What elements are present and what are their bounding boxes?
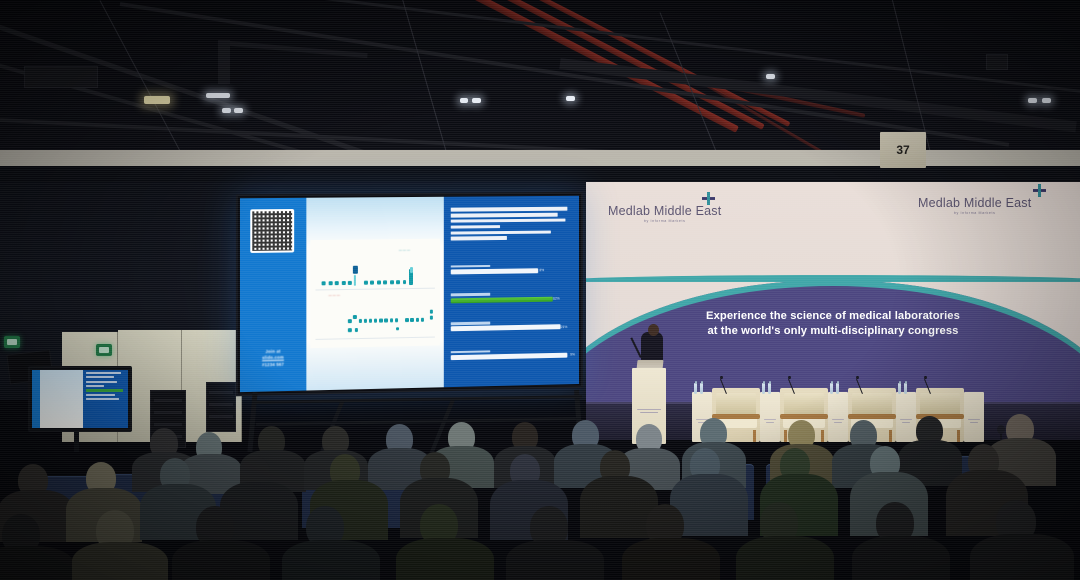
poll-option-0-percent: 8% — [539, 268, 544, 272]
speaker-head — [648, 324, 659, 336]
ceiling-light — [144, 96, 170, 104]
water-bottle — [762, 383, 765, 394]
backdrop-tagline: Experience the science of medical labora… — [626, 309, 1041, 341]
water-bottle — [768, 383, 771, 394]
medlab-logo-right: Medlab Middle East by Informa Markets — [918, 196, 1031, 215]
panel-mic-head — [788, 376, 791, 379]
audience-shoulders — [970, 534, 1074, 580]
audience-shoulders — [72, 542, 168, 580]
water-bottle — [836, 383, 839, 394]
audience — [0, 410, 1080, 580]
panel-mic-head — [924, 376, 927, 379]
ceiling-duct — [218, 40, 368, 58]
join-line-1: Join at — [243, 348, 304, 354]
medlab-logo-left-text: Medlab Middle East — [608, 204, 721, 218]
join-line-2: slido.com — [243, 355, 304, 361]
hall-sign-37: 37 — [880, 132, 926, 168]
water-bottle — [700, 383, 703, 394]
audience-shoulders — [852, 536, 950, 580]
chart-legend-bottom: — — — — [328, 294, 339, 298]
slide-join-text: Join at slido.com #1234 567 — [243, 347, 304, 369]
join-line-3: #1234 567 — [243, 361, 304, 367]
ceiling-duct — [218, 40, 230, 84]
poll-option-0[interactable]: 8% — [451, 264, 572, 275]
projection-screen: Join at slido.com #1234 567 — — — — — — — [236, 192, 583, 397]
poll-option-2-percent: 21% — [561, 325, 568, 329]
panel-mic-head — [720, 376, 723, 379]
ceiling-light — [766, 74, 775, 79]
panel-mic-head — [856, 376, 859, 379]
ceiling-pipe-red — [495, 0, 765, 130]
ceiling-light — [206, 93, 230, 98]
poll-option-3-percent: 9% — [570, 353, 575, 357]
poll-question — [451, 207, 572, 243]
slide-chart-panel: — — — — — — — [306, 197, 444, 391]
slide-join-rail: Join at slido.com #1234 567 — [240, 198, 306, 392]
conference-photo-scene: 37 Medlab Middle East by Informa Markets… — [0, 0, 1080, 580]
ceiling-fixture — [986, 54, 1008, 70]
audience-shoulders — [172, 540, 270, 580]
backdrop-tagline-line2: at the world's only multi-disciplinary c… — [626, 324, 1041, 340]
chart-legend-top: — — — — [399, 248, 410, 252]
poll-option-3[interactable]: 9% — [451, 348, 572, 360]
chart-card: — — — — — — — [310, 239, 440, 348]
medlab-logo-left: Medlab Middle East by Informa Markets — [608, 204, 721, 223]
water-bottle — [830, 383, 833, 394]
audience-shoulders — [736, 536, 834, 580]
ceiling-light — [222, 108, 231, 113]
medlab-cross-icon — [1033, 184, 1046, 197]
audience-shoulders — [622, 538, 720, 580]
poll-option-1[interactable]: 62% — [451, 292, 572, 303]
ceiling-light — [234, 108, 243, 113]
water-bottle — [694, 383, 697, 394]
exit-sign-icon — [4, 336, 20, 348]
medlab-logo-right-subtext: by Informa Markets — [918, 211, 1031, 215]
backdrop-tagline-line1: Experience the science of medical labora… — [626, 309, 1041, 325]
hall-sign-number: 37 — [880, 132, 926, 168]
audience-shoulders — [396, 538, 494, 580]
ceiling-fixture — [24, 66, 98, 88]
ceiling-light — [566, 96, 575, 101]
medlab-cross-icon — [702, 192, 715, 205]
audience-shoulders — [0, 546, 74, 580]
ceiling-light — [472, 98, 481, 103]
poll-option-2[interactable]: 21% — [451, 320, 572, 332]
slide-poll-panel: 8% 62% 21% 9% — [444, 196, 579, 387]
exit-sign-icon — [96, 344, 112, 356]
water-bottle — [904, 383, 907, 394]
audience-shoulders — [506, 540, 604, 580]
water-bottle — [898, 383, 901, 394]
poll-option-1-percent: 62% — [553, 296, 560, 300]
ceiling-light — [1028, 98, 1037, 103]
qr-code-icon — [251, 209, 295, 253]
medlab-logo-left-subtext: by Informa Markets — [608, 219, 721, 223]
medlab-logo-right-text: Medlab Middle East — [918, 196, 1031, 210]
ceiling-light — [1042, 98, 1051, 103]
slide-content: Join at slido.com #1234 567 — — — — — — — [240, 196, 579, 392]
hall-column — [0, 166, 1080, 182]
audience-shoulders — [282, 540, 380, 580]
ceiling-light — [460, 98, 468, 103]
